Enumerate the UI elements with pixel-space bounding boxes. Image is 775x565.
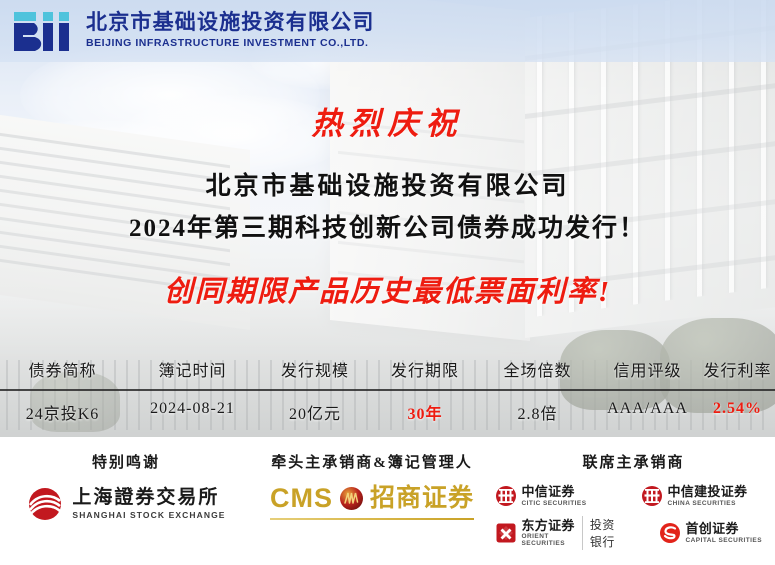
cell-term: 30年 <box>370 391 480 432</box>
china-securities-name-en: CHINA SECURITIES <box>668 500 748 507</box>
capital-securities-logo[interactable]: 首创证券 CAPITAL SECURITIES <box>659 516 775 550</box>
special-thanks-title: 特别鸣谢 <box>92 451 160 472</box>
special-thanks-section: 特别鸣谢 上海證券交易所 SHANGHAI STOCK EXCHANGE <box>0 451 252 550</box>
china-securities-name-cn: 中信建投证券 <box>668 485 748 499</box>
header-book-date: 簿记时间 <box>125 352 260 389</box>
logo-divider <box>582 516 583 550</box>
partners-footer: 特别鸣谢 上海證券交易所 SHANGHAI STOCK EXCHANGE <box>0 437 775 565</box>
celebrate-text: 热烈庆祝 <box>0 98 775 143</box>
orient-subtitle: 投资银行 <box>590 516 627 550</box>
orient-securities-logo[interactable]: 东方证券 ORIENT SECURITIES 投资银行 <box>495 516 627 550</box>
headline-line-2: 2024年第三期科技创新公司债券成功发行！ <box>0 208 775 244</box>
cell-bond-name: 24京投K6 <box>0 391 125 432</box>
cms-letters: CMS <box>270 485 333 512</box>
joint-underwriter-section: 联席主承销商 <box>492 451 775 550</box>
company-name-block: 北京市基础设施投资有限公司 BEIJING INFRASTRUCTURE INV… <box>86 11 375 51</box>
cms-underline <box>270 518 474 520</box>
capital-name-en: CAPITAL SECURITIES <box>686 537 762 544</box>
sse-name-en: SHANGHAI STOCK EXCHANGE <box>72 510 225 520</box>
header-bond-name: 债券简称 <box>0 352 125 389</box>
cell-book-date: 2024-08-21 <box>125 391 260 432</box>
capital-name-cn: 首创证券 <box>686 522 762 536</box>
header-issue-size: 发行规模 <box>260 352 370 389</box>
sse-name-cn: 上海證券交易所 <box>72 488 225 508</box>
bank-row-1: 中信证券 CITIC SECURITIES <box>495 485 773 507</box>
company-name-en: BEIJING INFRASTRUCTURE INVESTMENT CO.,LT… <box>86 37 375 51</box>
table-divider-line <box>0 389 775 391</box>
citic-securities-logo[interactable]: 中信证券 CITIC SECURITIES <box>495 485 627 507</box>
table-row: 24京投K6 2024-08-21 20亿元 30年 2.8倍 AAA/AAA … <box>0 391 775 432</box>
orient-securities-icon <box>495 522 517 544</box>
china-securities-logo[interactable]: 中信建投证券 CHINA SECURITIES <box>641 485 773 507</box>
bond-issuance-poster: 北京市基础设施投资有限公司 BEIJING INFRASTRUCTURE INV… <box>0 0 775 565</box>
bank-row-2: 东方证券 ORIENT SECURITIES 投资银行 <box>495 516 773 550</box>
company-header-bar: 北京市基础设施投资有限公司 BEIJING INFRASTRUCTURE INV… <box>0 0 775 62</box>
table-header-row: 债券简称 簿记时间 发行规模 发行期限 全场倍数 信用评级 发行利率 <box>0 352 775 389</box>
header-multiple: 全场倍数 <box>480 352 595 389</box>
cms-logo[interactable]: CMS <box>270 485 474 517</box>
bond-summary-table: 债券简称 簿记时间 发行规模 发行期限 全场倍数 信用评级 发行利率 24京投K… <box>0 352 775 432</box>
joint-underwriter-title: 联席主承销商 <box>582 451 684 472</box>
orient-name-en: ORIENT SECURITIES <box>522 533 576 547</box>
cms-seal-icon <box>339 486 364 511</box>
cell-coupon-rate: 2.54% <box>700 391 775 432</box>
cell-issue-size: 20亿元 <box>260 391 370 432</box>
company-name-cn: 北京市基础设施投资有限公司 <box>86 11 375 35</box>
orient-name-cn: 东方证券 <box>522 519 576 533</box>
header-credit-rating: 信用评级 <box>595 352 700 389</box>
capital-securities-icon <box>659 522 681 544</box>
header-term: 发行期限 <box>370 352 480 389</box>
cell-multiple: 2.8倍 <box>480 391 595 432</box>
cell-credit-rating: AAA/AAA <box>595 391 700 432</box>
joint-underwriter-logos: 中信证券 CITIC SECURITIES <box>495 485 773 550</box>
headline-line-1: 北京市基础设施投资有限公司 <box>0 166 775 202</box>
bii-logo-icon <box>14 10 74 52</box>
china-securities-icon <box>641 485 663 507</box>
lead-underwriter-section: 牵头主承销商&簿记管理人 CMS <box>252 451 492 550</box>
sse-logo[interactable]: 上海證券交易所 SHANGHAI STOCK EXCHANGE <box>26 485 225 523</box>
citic-name-cn: 中信证券 <box>522 485 587 499</box>
header-coupon-rate: 发行利率 <box>700 352 775 389</box>
sse-wave-icon <box>26 485 64 523</box>
lead-underwriter-title: 牵头主承销商&簿记管理人 <box>271 451 473 472</box>
cms-name-cn: 招商证券 <box>370 486 474 511</box>
headline-highlight: 创同期限产品历史最低票面利率! <box>0 268 775 310</box>
citic-name-en: CITIC SECURITIES <box>522 500 587 507</box>
citic-securities-icon <box>495 485 517 507</box>
